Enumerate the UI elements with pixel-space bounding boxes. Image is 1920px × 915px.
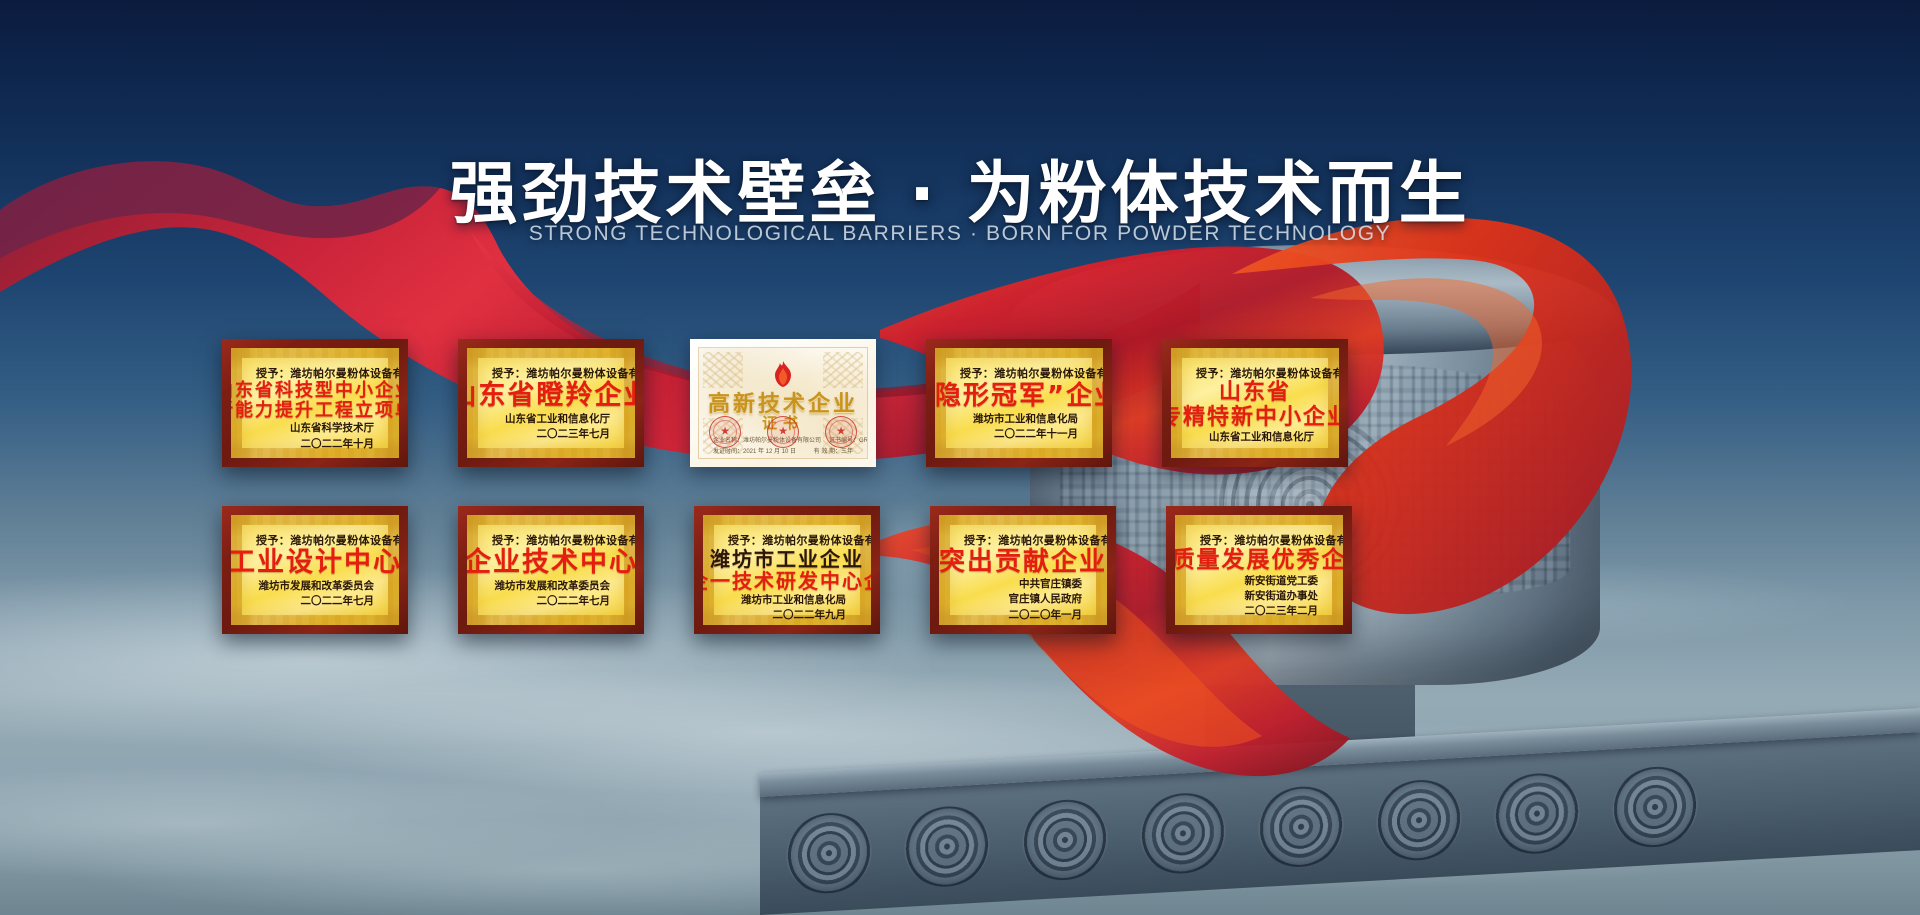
official-seal-icon xyxy=(825,416,857,448)
plaque-footer: 潍坊市发展和改革委员会 二〇二二年七月 xyxy=(256,579,374,609)
ornament-corner-icon xyxy=(823,352,863,388)
plaque-frame-inner: 授予：潍坊帕尔曼粉体设备有限公司 “隐形冠军”企业 潍坊市工业和信息化局 二〇二… xyxy=(935,348,1103,458)
plaque-issuer: 潍坊市工业和信息化局 xyxy=(728,593,846,608)
plaque-footer: 中共官庄镇委 官庄镇人民政府 二〇二〇年一月 xyxy=(964,577,1082,623)
banner-stage: 强劲技术壁垒 · 为粉体技术而生 STRONG TECHNOLOGICAL BA… xyxy=(0,0,1920,915)
plaque-title-line1: “隐形冠军”企业 xyxy=(935,382,1103,411)
plaque-frame-inner: 授予：潍坊帕尔曼粉体设备有限公司 潍坊市工业企业 一企一技术研发中心企业 潍坊市… xyxy=(703,515,871,625)
plaque-title: 企业技术中心 xyxy=(492,548,610,579)
plaque-issuer-secondary: 官庄镇人民政府 xyxy=(964,592,1082,607)
plaque-hidden-champion-enterprise[interactable]: 授予：潍坊帕尔曼粉体设备有限公司 “隐形冠军”企业 潍坊市工业和信息化局 二〇二… xyxy=(926,339,1112,467)
plaque-field: 授予：潍坊帕尔曼粉体设备有限公司 突出贡献企业 中共官庄镇委 官庄镇人民政府 二… xyxy=(950,525,1096,615)
balustrade-medallion xyxy=(1612,765,1698,850)
plaque-frame-inner: 授予：潍坊帕尔曼粉体设备有限公司 企业技术中心 潍坊市发展和改革委员会 二〇二二… xyxy=(467,515,635,625)
plaque-award-label: 授予：潍坊帕尔曼粉体设备有限公司 xyxy=(728,532,846,548)
certificate-authority: 批准机关： xyxy=(713,458,743,459)
plaque-issuer: 山东省工业和信息化厅 xyxy=(492,412,610,427)
plaque-award-label: 授予：潍坊帕尔曼粉体设备有限公司 xyxy=(960,365,1078,381)
plaque-date: 二〇二二年七月 xyxy=(492,594,610,609)
plaque-title-line2: 专精特新中小企业 xyxy=(1171,406,1339,431)
plaque-award-label: 授予：潍坊帕尔曼粉体设备有限公司 xyxy=(1196,365,1314,381)
bronze-ding-vessel xyxy=(1000,215,1640,735)
plaque-issuer: 潍坊市发展和改革委员会 xyxy=(256,579,374,594)
plaque-title-line1: 山东省瞪羚企业 xyxy=(467,381,635,411)
plaque-issuer: 山东省科学技术厅 xyxy=(256,421,374,436)
plaque-award-label: 授予：潍坊帕尔曼粉体设备有限公司 xyxy=(1200,532,1318,548)
plaque-field: 授予：潍坊帕尔曼粉体设备有限公司 山东省科技型中小企业 创新能力提升工程立项单位… xyxy=(242,358,388,448)
plaque-footer: 山东省工业和信息化厅 xyxy=(1196,430,1314,447)
plaque-frame-inner: 授予：潍坊帕尔曼粉体设备有限公司 工业设计中心 潍坊市发展和改革委员会 二〇二二… xyxy=(231,515,399,625)
certificate-seals xyxy=(699,416,867,448)
plaque-shandong-sme-innovation[interactable]: 授予：潍坊帕尔曼粉体设备有限公司 山东省科技型中小企业 创新能力提升工程立项单位… xyxy=(222,339,408,467)
plaque-frame-inner: 授予：潍坊帕尔曼粉体设备有限公司 山东省 专精特新中小企业 山东省工业和信息化厅 xyxy=(1171,348,1339,458)
plaque-title-line2: 一企一技术研发中心企业 xyxy=(703,570,871,592)
plaque-shandong-gazelle-enterprise[interactable]: 授予：潍坊帕尔曼粉体设备有限公司 山东省瞪羚企业 山东省工业和信息化厅 二〇二三… xyxy=(458,339,644,467)
plaque-award-label: 授予：潍坊帕尔曼粉体设备有限公司 xyxy=(492,365,610,381)
plaque-date: 二〇二二年十月 xyxy=(256,437,374,452)
plaque-date: 二〇二〇年一月 xyxy=(964,608,1082,623)
certificate-row: 发证时间：2021 年 12 月 10 日 有 效 期：三年 xyxy=(713,447,853,458)
plaque-footer: 潍坊市发展和改革委员会 二〇二二年七月 xyxy=(492,579,610,609)
plaque-field: 授予：潍坊帕尔曼粉体设备有限公司 企业技术中心 潍坊市发展和改革委员会 二〇二二… xyxy=(478,525,624,615)
plaque-field: 授予：潍坊帕尔曼粉体设备有限公司 山东省瞪羚企业 山东省工业和信息化厅 二〇二三… xyxy=(478,358,624,448)
plaque-frame-inner: 授予：潍坊帕尔曼粉体设备有限公司 山东省科技型中小企业 创新能力提升工程立项单位… xyxy=(231,348,399,458)
certificate-high-tech-enterprise[interactable]: 高新技术企业 证书 企业名称：潍坊帕尔曼粉体设备有限公司 证书编号：GR2021… xyxy=(690,339,876,467)
plaque-award-label: 授予：潍坊帕尔曼粉体设备有限公司 xyxy=(256,365,374,381)
official-seal-icon xyxy=(709,416,741,448)
plaque-title: 潍坊市工业企业 一企一技术研发中心企业 xyxy=(728,548,846,593)
balustrade-medallion xyxy=(1376,778,1462,863)
flame-logo-icon xyxy=(770,360,796,388)
plaque-title: 突出贡献企业 xyxy=(964,548,1082,577)
plaque-title-line1: 企业技术中心 xyxy=(467,548,635,578)
plaque-enterprise-technology-center[interactable]: 授予：潍坊帕尔曼粉体设备有限公司 企业技术中心 潍坊市发展和改革委员会 二〇二二… xyxy=(458,506,644,634)
plaque-issuer: 潍坊市发展和改革委员会 xyxy=(492,579,610,594)
plaque-field: 授予：潍坊帕尔曼粉体设备有限公司 山东省 专精特新中小企业 山东省工业和信息化厅 xyxy=(1182,358,1328,448)
plaque-footer: 山东省科学技术厅 二〇二二年十月 xyxy=(256,421,374,451)
certificate-validity: 有 效 期：三年 xyxy=(814,447,853,458)
plaque-title: 工业设计中心 xyxy=(256,548,374,579)
plaque-footer: 新安街道党工委 新安街道办事处 二〇二三年二月 xyxy=(1200,574,1318,620)
plaque-issuer: 中共官庄镇委 xyxy=(964,577,1082,592)
plaque-field: 授予：潍坊帕尔曼粉体设备有限公司 工业设计中心 潍坊市发展和改革委员会 二〇二二… xyxy=(242,525,388,615)
plaque-title-line1: 工业设计中心 xyxy=(231,548,399,578)
plaque-issuer: 潍坊市工业和信息化局 xyxy=(960,412,1078,427)
plaque-frame-inner: 授予：潍坊帕尔曼粉体设备有限公司 高质量发展优秀企业 新安街道党工委 新安街道办… xyxy=(1175,515,1343,625)
plaque-date: 二〇二二年七月 xyxy=(256,594,374,609)
plaque-title-line1: 山东省科技型中小企业 xyxy=(231,381,399,401)
balustrade-medallion xyxy=(1494,771,1580,856)
plaque-footer: 潍坊市工业和信息化局 二〇二二年十一月 xyxy=(960,412,1078,442)
ornament-corner-icon xyxy=(703,352,743,388)
certificate-issue-date: 发证时间：2021 年 12 月 10 日 xyxy=(713,447,796,458)
balustrade-medallion xyxy=(1140,791,1226,876)
plaque-date: 二〇二二年九月 xyxy=(728,608,846,623)
plaque-footer: 潍坊市工业和信息化局 二〇二二年九月 xyxy=(728,593,846,623)
plaque-frame-inner: 授予：潍坊帕尔曼粉体设备有限公司 突出贡献企业 中共官庄镇委 官庄镇人民政府 二… xyxy=(939,515,1107,625)
plaque-title-line1: 突出贡献企业 xyxy=(939,548,1107,577)
plaque-title-line1: 潍坊市工业企业 xyxy=(710,548,864,570)
plaque-award-label: 授予：潍坊帕尔曼粉体设备有限公司 xyxy=(256,532,374,548)
plaque-date: 二〇二三年七月 xyxy=(492,427,610,442)
plaque-field: 授予：潍坊帕尔曼粉体设备有限公司 “隐形冠军”企业 潍坊市工业和信息化局 二〇二… xyxy=(946,358,1092,448)
plaque-issuer: 山东省工业和信息化厅 xyxy=(1196,430,1314,445)
plaque-title: 高质量发展优秀企业 xyxy=(1200,548,1318,574)
plaque-title-line1: 山东省 xyxy=(1219,381,1291,406)
plaque-title-line2: 创新能力提升工程立项单位 xyxy=(231,401,399,421)
plaque-award-label: 授予：潍坊帕尔曼粉体设备有限公司 xyxy=(492,532,610,548)
page-subtitle: STRONG TECHNOLOGICAL BARRIERS · BORN FOR… xyxy=(0,222,1920,246)
plaque-date: 二〇二三年二月 xyxy=(1200,604,1318,619)
balustrade-medallion xyxy=(1258,784,1344,869)
balustrade-medallion xyxy=(1022,798,1108,883)
certificate-inner: 高新技术企业 证书 企业名称：潍坊帕尔曼粉体设备有限公司 证书编号：GR2021… xyxy=(698,347,868,459)
plaque-title: “隐形冠军”企业 xyxy=(960,381,1078,412)
balustrade-medallion xyxy=(786,811,872,896)
balustrade-medallion xyxy=(904,804,990,889)
plaque-field: 授予：潍坊帕尔曼粉体设备有限公司 高质量发展优秀企业 新安街道党工委 新安街道办… xyxy=(1186,525,1332,615)
official-seal-icon xyxy=(767,416,799,448)
plaque-title: 山东省 专精特新中小企业 xyxy=(1196,381,1314,430)
plaque-frame-inner: 授予：潍坊帕尔曼粉体设备有限公司 山东省瞪羚企业 山东省工业和信息化厅 二〇二三… xyxy=(467,348,635,458)
plaque-outstanding-contribution-enterprise[interactable]: 授予：潍坊帕尔曼粉体设备有限公司 突出贡献企业 中共官庄镇委 官庄镇人民政府 二… xyxy=(930,506,1116,634)
plaque-title: 山东省瞪羚企业 xyxy=(492,381,610,412)
plaque-industrial-design-center[interactable]: 授予：潍坊帕尔曼粉体设备有限公司 工业设计中心 潍坊市发展和改革委员会 二〇二二… xyxy=(222,506,408,634)
plaque-footer: 山东省工业和信息化厅 二〇二三年七月 xyxy=(492,412,610,442)
plaque-issuer-secondary: 新安街道办事处 xyxy=(1200,589,1318,604)
plaque-one-enterprise-one-technology-rd-center[interactable]: 授予：潍坊帕尔曼粉体设备有限公司 潍坊市工业企业 一企一技术研发中心企业 潍坊市… xyxy=(694,506,880,634)
plaque-date: 二〇二二年十一月 xyxy=(960,427,1078,442)
plaque-title: 山东省科技型中小企业 创新能力提升工程立项单位 xyxy=(256,381,374,421)
plaque-high-quality-development-excellent-enterprise[interactable]: 授予：潍坊帕尔曼粉体设备有限公司 高质量发展优秀企业 新安街道党工委 新安街道办… xyxy=(1166,506,1352,634)
plaque-field: 授予：潍坊帕尔曼粉体设备有限公司 潍坊市工业企业 一企一技术研发中心企业 潍坊市… xyxy=(714,525,860,615)
plaque-shandong-specialized-sme[interactable]: 授予：潍坊帕尔曼粉体设备有限公司 山东省 专精特新中小企业 山东省工业和信息化厅 xyxy=(1162,339,1348,467)
certificate-row: 批准机关： xyxy=(713,458,853,459)
plaque-title-line1: 高质量发展优秀企业 xyxy=(1175,548,1343,574)
plaque-award-label: 授予：潍坊帕尔曼粉体设备有限公司 xyxy=(964,532,1082,548)
plaque-issuer: 新安街道党工委 xyxy=(1200,574,1318,589)
